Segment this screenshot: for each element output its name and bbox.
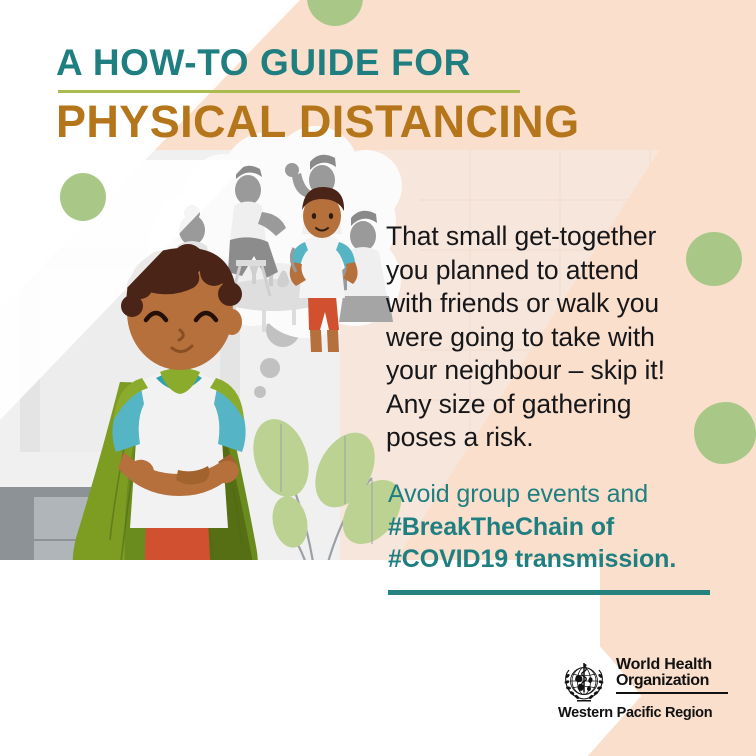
body-line: Any size of gathering [386, 388, 716, 422]
title-line-2: PHYSICAL DISTANCING [56, 99, 656, 144]
call-to-action-block: Avoid group events and #BreakTheChain of… [388, 478, 728, 576]
cta-divider-rule [388, 590, 710, 595]
body-line: poses a risk. [386, 421, 716, 455]
who-wordmark: World Health Organization [616, 657, 736, 695]
title-divider-rule [58, 90, 520, 93]
who-emblem-icon [558, 659, 610, 707]
title-block: A HOW-TO GUIDE FOR PHYSICAL DISTANCING [56, 44, 656, 144]
cta-line-1: Avoid group events and [388, 478, 728, 511]
who-region-label: Western Pacific Region [558, 705, 728, 721]
body-line: That small get-together [386, 220, 716, 254]
cta-line-2-hashtag-breakthechain: #BreakTheChain of [388, 511, 728, 544]
poster-canvas: A HOW-TO GUIDE FOR PHYSICAL DISTANCING T… [0, 0, 756, 756]
body-line: your neighbour – skip it! [386, 354, 716, 388]
body-line: with friends or walk you [386, 287, 716, 321]
who-logo: World Health Organization Western Pacifi… [558, 657, 728, 723]
title-line-1: A HOW-TO GUIDE FOR [56, 44, 656, 81]
who-line-1: World Health [616, 657, 736, 673]
who-divider-rule [616, 692, 728, 694]
decor-circle-left [60, 173, 106, 221]
body-line: were going to take with [386, 321, 716, 355]
cta-line-3-hashtag-covid19: #COVID19 transmission. [388, 543, 728, 576]
body-paragraph: That small get-together you planned to a… [386, 220, 716, 455]
body-line: you planned to attend [386, 254, 716, 288]
who-line-2: Organization [616, 673, 736, 689]
